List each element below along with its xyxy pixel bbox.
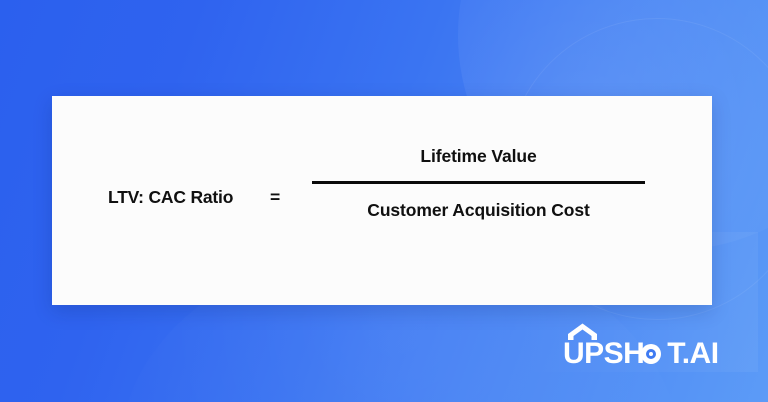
wordmark-part-1: UPSH: [563, 337, 644, 370]
fraction: Lifetime Value Customer Acquisition Cost: [312, 148, 645, 219]
upshot-target-o-icon: [641, 344, 661, 364]
formula-block: LTV: CAC Ratio = Lifetime Value Customer…: [52, 96, 712, 305]
formula-left-label: LTV: CAC Ratio: [108, 187, 233, 208]
fraction-denominator: Customer Acquisition Cost: [312, 184, 645, 220]
equals-sign: =: [270, 187, 280, 208]
fraction-numerator: Lifetime Value: [312, 148, 645, 181]
formula-card: LTV: CAC Ratio = Lifetime Value Customer…: [52, 96, 712, 305]
target-o-ring: [646, 349, 656, 359]
target-o-center: [649, 352, 653, 356]
wordmark-part-2: T.AI: [667, 337, 718, 370]
poster-canvas: LTV: CAC Ratio = Lifetime Value Customer…: [0, 0, 768, 402]
